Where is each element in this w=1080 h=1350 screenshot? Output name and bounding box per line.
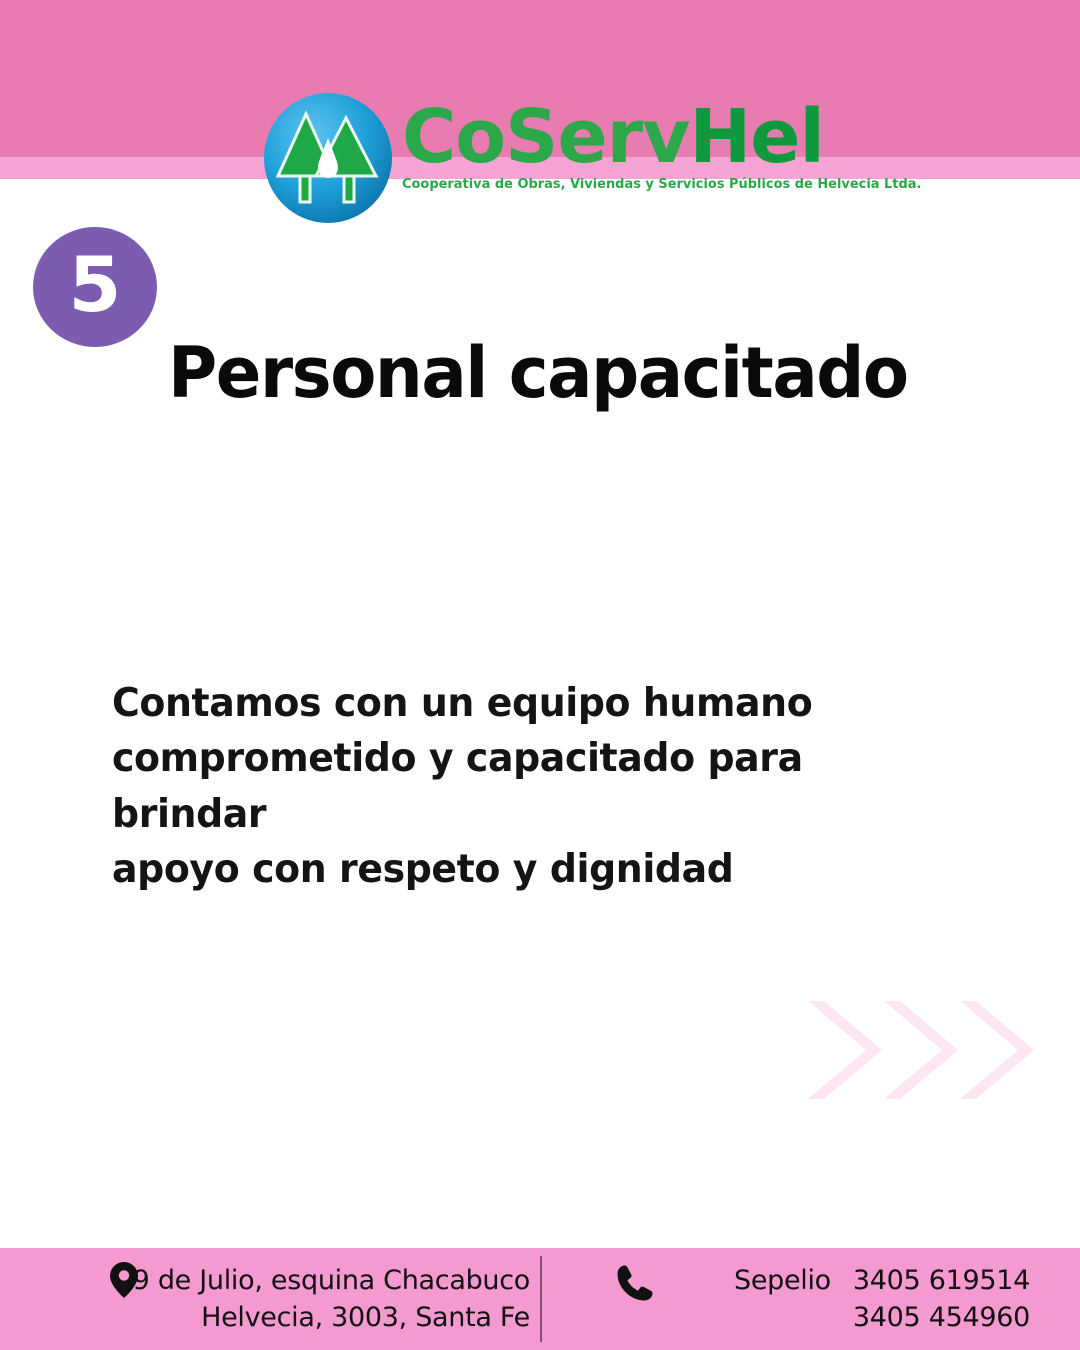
phone-icon [612,1262,656,1306]
footer-divider [540,1256,542,1342]
brand-wordmark-text: CoServHel [402,102,822,172]
footer-contact-row-1: Sepelio 3405 619514 [700,1262,1030,1299]
footer-contact-label: Sepelio [734,1262,831,1299]
slide-number-value: 5 [69,247,122,323]
footer-contact-row-2: 3405 454960 [700,1299,1030,1336]
footer-contact-phone-2: 3405 454960 [853,1299,1030,1336]
slide-number-badge: 5 [33,227,157,347]
brand-wordmark-part2: Hel [689,94,824,180]
brand-wordmark: CoServHel Cooperativa de Obras, Vivienda… [402,102,822,192]
body-copy-line-3: apoyo con respeto y dignidad [112,842,966,897]
footer-contact-phone-1: 3405 619514 [853,1262,1030,1299]
coservhel-logo-mark-icon [262,92,394,224]
footer-contact: Sepelio 3405 619514 3405 454960 [700,1262,1030,1337]
footer-address-line-1: 9 de Julio, esquina Chacabuco [100,1262,530,1299]
footer-address: 9 de Julio, esquina Chacabuco Helvecia, … [100,1262,530,1337]
brand-logo: CoServHel Cooperativa de Obras, Vivienda… [262,92,822,240]
body-copy-line-2: comprometido y capacitado para brindar [112,731,966,842]
page-title: Personal capacitado [168,332,994,414]
chevron-right-triple-icon [808,995,1048,1105]
brand-tagline: Cooperativa de Obras, Viviendas y Servic… [402,176,805,192]
footer-address-line-2: Helvecia, 3003, Santa Fe [100,1299,530,1336]
brand-wordmark-part1: CoServ [402,94,689,180]
body-copy-line-1: Contamos con un equipo humano [112,676,966,731]
body-copy: Contamos con un equipo humano comprometi… [112,676,966,898]
slide-canvas: CoServHel Cooperativa de Obras, Vivienda… [0,0,1080,1350]
